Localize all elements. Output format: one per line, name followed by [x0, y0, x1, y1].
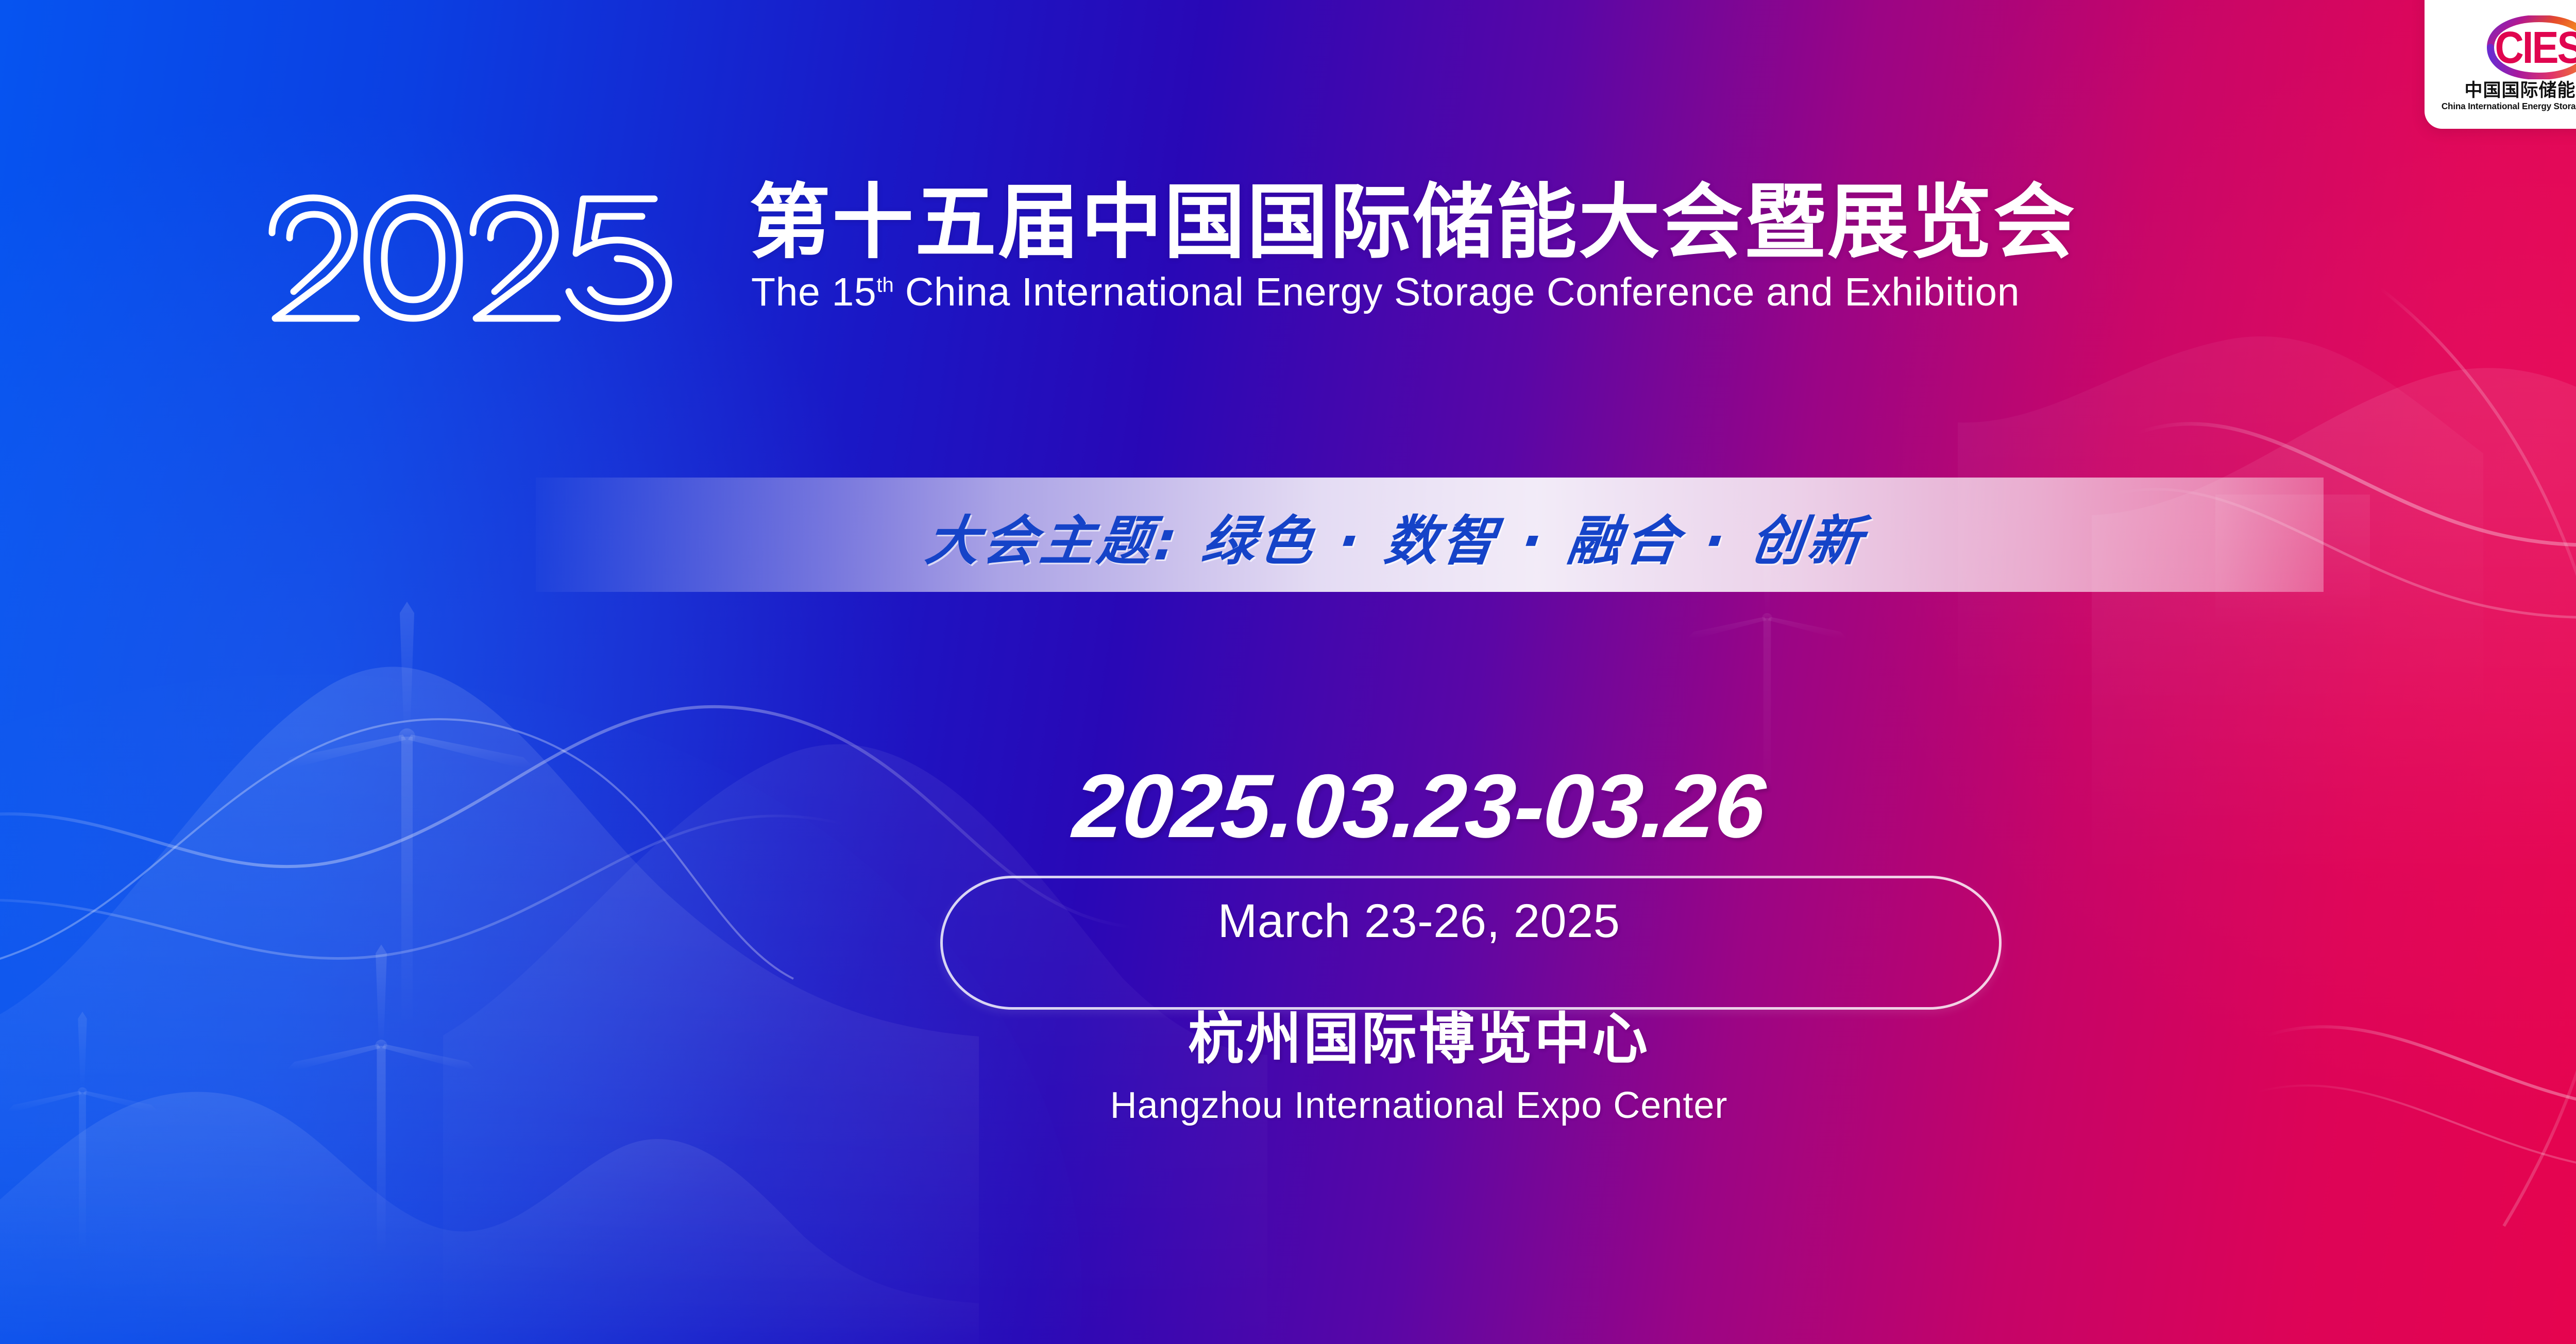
conference-theme-text: 大会主题: 绿色 · 数智 · 融合 · 创新 [922, 497, 1870, 575]
logo-cn-name: 中国国际储能大会 [2464, 81, 2576, 100]
venue-name-cn: 杭州国际博览中心 [0, 1012, 2576, 1067]
cies-logo-badge[interactable]: CIES 中国国际储能大会 China International Energy… [2425, 0, 2576, 129]
logo-en-name: China International Energy Storage Confe… [2442, 101, 2576, 111]
title-en-prefix: The 15 [751, 270, 876, 314]
conference-banner: 第十五届中国国际储能大会暨展览会 The 15th China Internat… [0, 0, 2576, 1344]
year-2025-outline [263, 189, 726, 328]
page-title-en: The 15th China International Energy Stor… [751, 271, 2076, 313]
page-title-cn: 第十五届中国国际储能大会暨展览会 [749, 181, 2076, 264]
venue-name-en: Hangzhou International Expo Center [0, 1087, 2576, 1124]
title-en-ordinal: th [876, 274, 893, 297]
flowing-wave-line [2112, 288, 2576, 1226]
cies-wordmark: CIES [2495, 25, 2576, 70]
cies-ellipse-icon: CIES [2470, 15, 2576, 79]
title-block: 第十五届中国国际储能大会暨展览会 The 15th China Internat… [263, 181, 2076, 328]
date-english: March 23-26, 2025 [0, 897, 2576, 945]
cies-logo-group: CIES 中国国际储能大会 China International Energy… [2461, 15, 2576, 112]
conference-theme-strip: 大会主题: 绿色 · 数智 · 融合 · 创新 [536, 478, 2324, 592]
date-numeric: 2025.03.23-03.26 [0, 761, 2576, 852]
title-en-suffix: China International Energy Storage Confe… [894, 270, 2020, 314]
